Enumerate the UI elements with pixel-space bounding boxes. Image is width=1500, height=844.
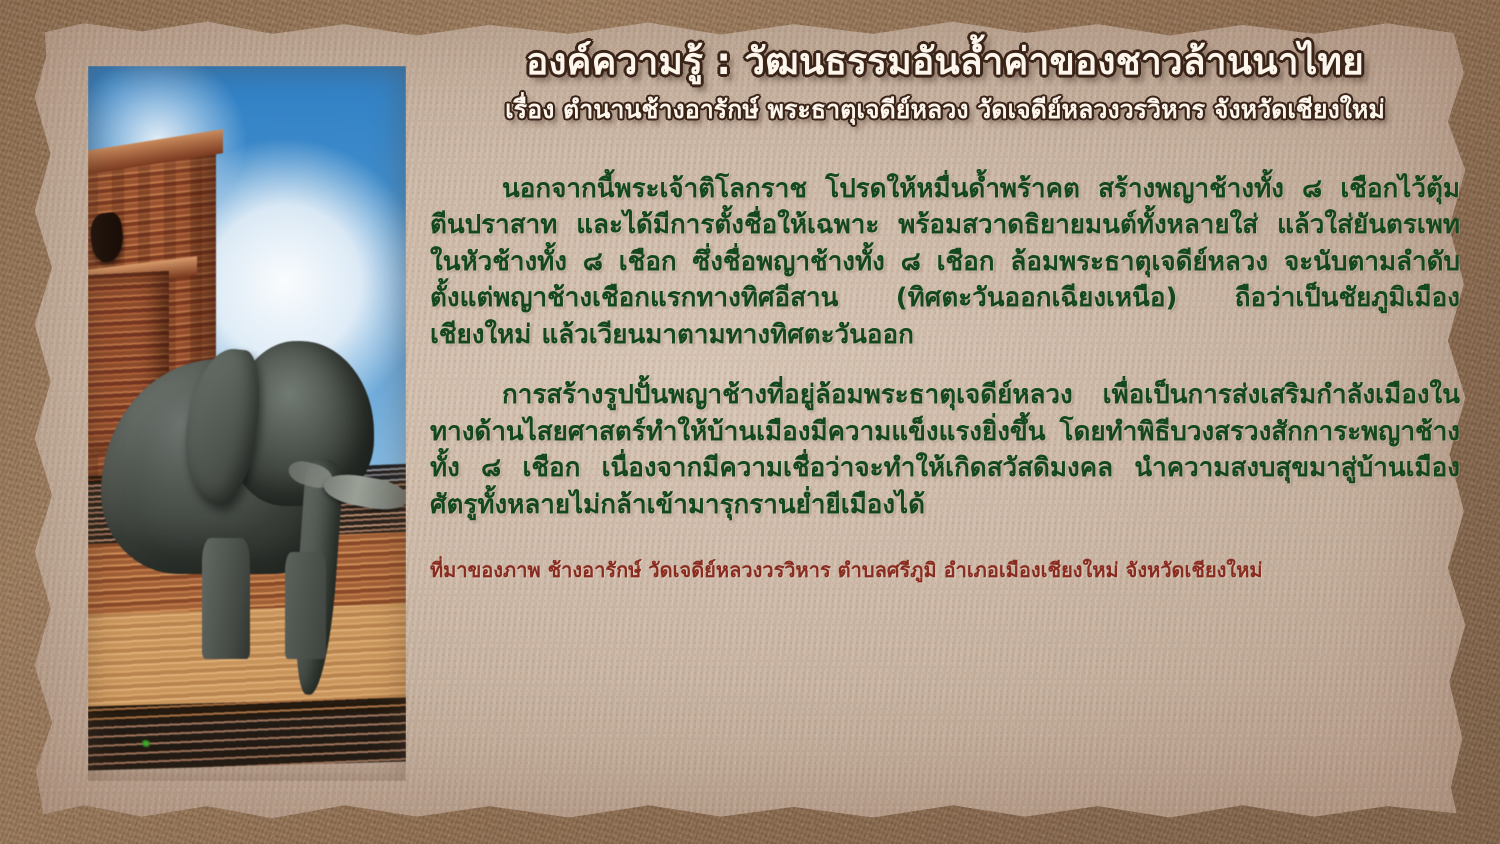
page-subtitle: เรื่อง ตำนานช้างอารักษ์ พระธาตุเจดีย์หลว… xyxy=(430,94,1460,127)
paragraph-2: การสร้างรูปปั้นพญาช้างที่อยู่ล้อมพระธาตุ… xyxy=(430,377,1460,523)
poster-canvas: องค์ความรู้ : วัฒนธรรมอันล้ำค่าของชาวล้า… xyxy=(0,0,1500,844)
elephant-photo-image xyxy=(88,66,406,781)
elephant-photo xyxy=(88,66,406,781)
elephant-hindleg xyxy=(285,552,326,659)
image-credit: ที่มาของภาพ ช้างอารักษ์ วัดเจดีย์หลวงวรว… xyxy=(430,557,1460,584)
elephant-foreleg xyxy=(202,538,250,660)
body-text-block: นอกจากนี้พระเจ้าติโลกราช โปรดให้หมื่นด้ำ… xyxy=(430,171,1460,585)
brick-wall-dark-lower xyxy=(88,698,406,771)
paragraph-1: นอกจากนี้พระเจ้าติโลกราช โปรดให้หมื่นด้ำ… xyxy=(430,171,1460,354)
content-column: องค์ความรู้ : วัฒนธรรมอันล้ำค่าของชาวล้า… xyxy=(430,38,1460,584)
page-title: องค์ความรู้ : วัฒนธรรมอันล้ำค่าของชาวล้า… xyxy=(430,38,1460,85)
moss-sprout xyxy=(142,740,150,747)
